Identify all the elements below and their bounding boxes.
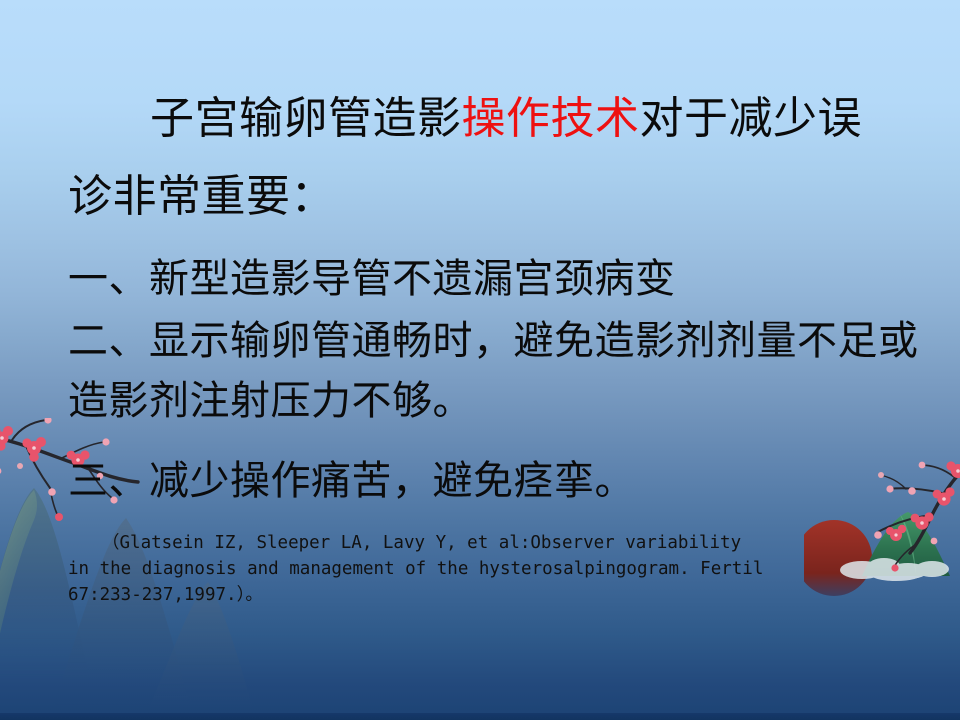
title-prefix-text: 子宫输卵管造影 [150,93,462,144]
citation-line-1: （Glatsein IZ, Sleeper LA, Lavy Y, et al:… [102,533,741,553]
slide-content: 子宫输卵管造影操作技术对于减少误 诊非常重要： 一、新型造影导管不遗漏宫颈病变 … [0,0,960,720]
slide-title-line-2: 诊非常重要： [68,172,335,222]
presentation-slide: 子宫输卵管造影操作技术对于减少误 诊非常重要： 一、新型造影导管不遗漏宫颈病变 … [0,0,960,720]
citation-line-2: in the diagnosis and management of the h… [68,559,763,579]
body-item-2-line-1: 二、显示输卵管通畅时，避免造影剂剂量不足或 [68,318,919,364]
body-item-1: 一、新型造影导管不遗漏宫颈病变 [68,256,676,302]
citation-block: （Glatsein IZ, Sleeper LA, Lavy Y, et al:… [68,530,898,608]
body-item-2-line-2: 造影剂注射压力不够。 [68,378,473,424]
title-suffix-text: 对于减少误 [640,93,863,144]
slide-title-line-1: 子宫输卵管造影操作技术对于减少误 [150,94,862,144]
title-highlight-text: 操作技术 [462,93,640,144]
citation-line-3: 67:233-237,1997.）。 [68,585,263,605]
body-item-3: 三、减少操作痛苦，避免痉挛。 [68,458,635,504]
